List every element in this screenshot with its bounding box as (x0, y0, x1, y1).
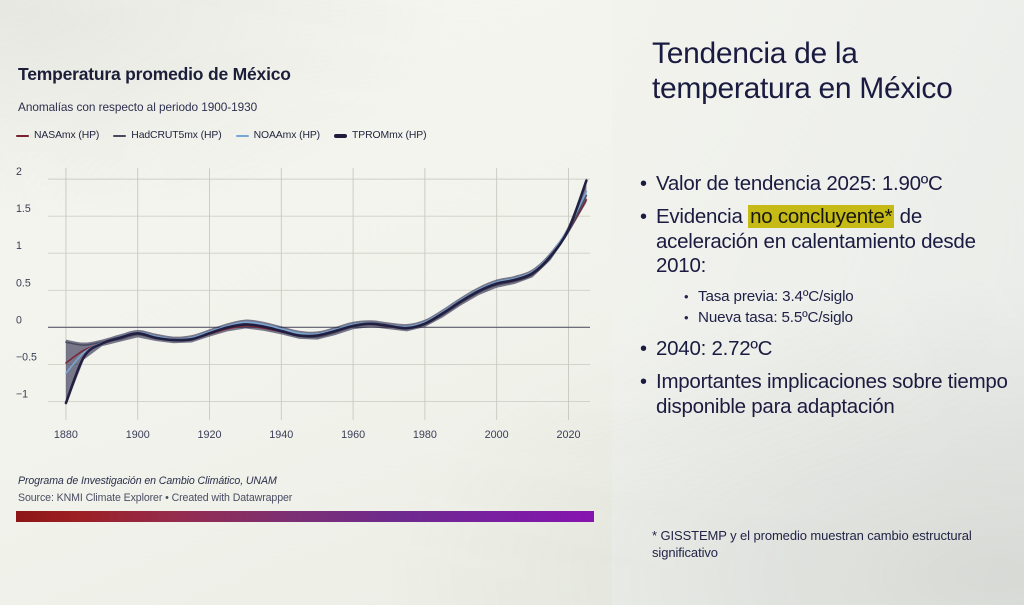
bullet-item: •Importantes implicaciones sobre tiempo … (640, 370, 1024, 420)
sub-bullet-item: •Nueva tasa: 5.5ºC/siglo (684, 308, 1024, 328)
svg-text:0: 0 (16, 314, 22, 326)
bullet-dot-icon: • (640, 370, 656, 395)
chart-panel: Temperatura promedio de México Anomalías… (0, 0, 612, 605)
bullet-text-before: 2040: 2.72ºC (656, 337, 772, 360)
chart-credit: Programa de Investigación en Cambio Clim… (18, 475, 277, 487)
legend-label: NASAmx (HP) (34, 130, 99, 141)
series-lines (66, 181, 586, 403)
legend-item[interactable]: TPROMmx (HP) (334, 130, 426, 141)
svg-text:−1: −1 (16, 388, 28, 400)
bullet-item: •Valor de tendencia 2025: 1.90ºC (640, 172, 1024, 197)
chart-plot-area: 21.510.50−0.5−1 188019001920194019601980… (14, 160, 600, 450)
footnote: * GISSTEMP y el promedio muestran cambio… (652, 527, 1002, 561)
grid-lines (48, 168, 590, 420)
bullet-dot-icon: • (640, 337, 656, 362)
svg-text:1980: 1980 (413, 429, 437, 441)
svg-text:−0.5: −0.5 (16, 351, 37, 363)
bullet-item: •Evidencia no concluyente* de aceleració… (640, 205, 1024, 279)
chart-legend: NASAmx (HP)HadCRUT5mx (HP)NOAAmx (HP)TPR… (16, 130, 426, 141)
legend-item[interactable]: NOAAmx (HP) (236, 130, 320, 141)
x-axis-tick-labels: 18801900192019401960198020002020 (54, 429, 581, 441)
legend-item[interactable]: NASAmx (HP) (16, 130, 99, 141)
text-panel: Tendencia de la temperatura en México •V… (612, 0, 1024, 605)
legend-swatch-icon (113, 135, 126, 137)
legend-label: HadCRUT5mx (HP) (131, 130, 221, 141)
temperature-anomaly-line-chart: 21.510.50−0.5−1 188019001920194019601980… (14, 160, 600, 450)
legend-swatch-icon (236, 135, 249, 137)
legend-label: NOAAmx (HP) (254, 130, 320, 141)
svg-text:1940: 1940 (269, 429, 293, 441)
panel-heading: Tendencia de la temperatura en México (652, 36, 1004, 106)
bullet-text: Importantes implicaciones sobre tiempo d… (656, 370, 1024, 420)
bullet-item: •2040: 2.72ºC (640, 337, 1024, 362)
chart-subtitle: Anomalías con respecto al periodo 1900-1… (18, 100, 257, 114)
highlighted-text: no concluyente* (748, 205, 894, 228)
sub-bullet-item: •Tasa previa: 3.4ºC/siglo (684, 287, 1024, 307)
bullet-dot-icon: • (640, 172, 656, 197)
sub-bullet-text: Tasa previa: 3.4ºC/siglo (698, 287, 854, 307)
sub-bullet-dot-icon: • (684, 287, 698, 307)
legend-item[interactable]: HadCRUT5mx (HP) (113, 130, 221, 141)
legend-swatch-icon (16, 135, 29, 137)
series-spread-band (66, 178, 586, 406)
svg-text:1960: 1960 (341, 429, 365, 441)
bullet-list: •Valor de tendencia 2025: 1.90ºC•Evidenc… (640, 172, 1024, 428)
bullet-text: Evidencia no concluyente* de aceleración… (656, 205, 1024, 279)
svg-text:2: 2 (16, 166, 22, 178)
bullet-text: 2040: 2.72ºC (656, 337, 772, 362)
chart-source: Source: KNMI Climate Explorer • Created … (18, 492, 292, 504)
svg-text:1920: 1920 (198, 429, 222, 441)
svg-text:1880: 1880 (54, 429, 78, 441)
y-axis-tick-labels: 21.510.50−0.5−1 (16, 166, 37, 400)
bullet-text-before: Evidencia (656, 205, 748, 228)
svg-text:2000: 2000 (485, 429, 509, 441)
svg-text:1.5: 1.5 (16, 203, 31, 215)
slide: Temperatura promedio de México Anomalías… (0, 0, 1024, 605)
legend-swatch-icon (334, 134, 347, 138)
sub-bullet-list: •Tasa previa: 3.4ºC/siglo•Nueva tasa: 5.… (684, 287, 1024, 328)
svg-text:1900: 1900 (126, 429, 150, 441)
bullet-text-before: Importantes implicaciones sobre tiempo d… (656, 370, 1008, 418)
sub-bullet-text: Nueva tasa: 5.5ºC/siglo (698, 308, 853, 328)
svg-text:1: 1 (16, 240, 22, 252)
bullet-text: Valor de tendencia 2025: 1.90ºC (656, 172, 943, 197)
decorative-gradient-bar (16, 511, 594, 522)
bullet-text-before: Valor de tendencia 2025: 1.90ºC (656, 172, 943, 195)
svg-text:2020: 2020 (556, 429, 580, 441)
sub-bullet-dot-icon: • (684, 308, 698, 328)
legend-label: TPROMmx (HP) (352, 130, 426, 141)
chart-title: Temperatura promedio de México (18, 64, 291, 85)
svg-text:0.5: 0.5 (16, 277, 31, 289)
bullet-dot-icon: • (640, 205, 656, 230)
